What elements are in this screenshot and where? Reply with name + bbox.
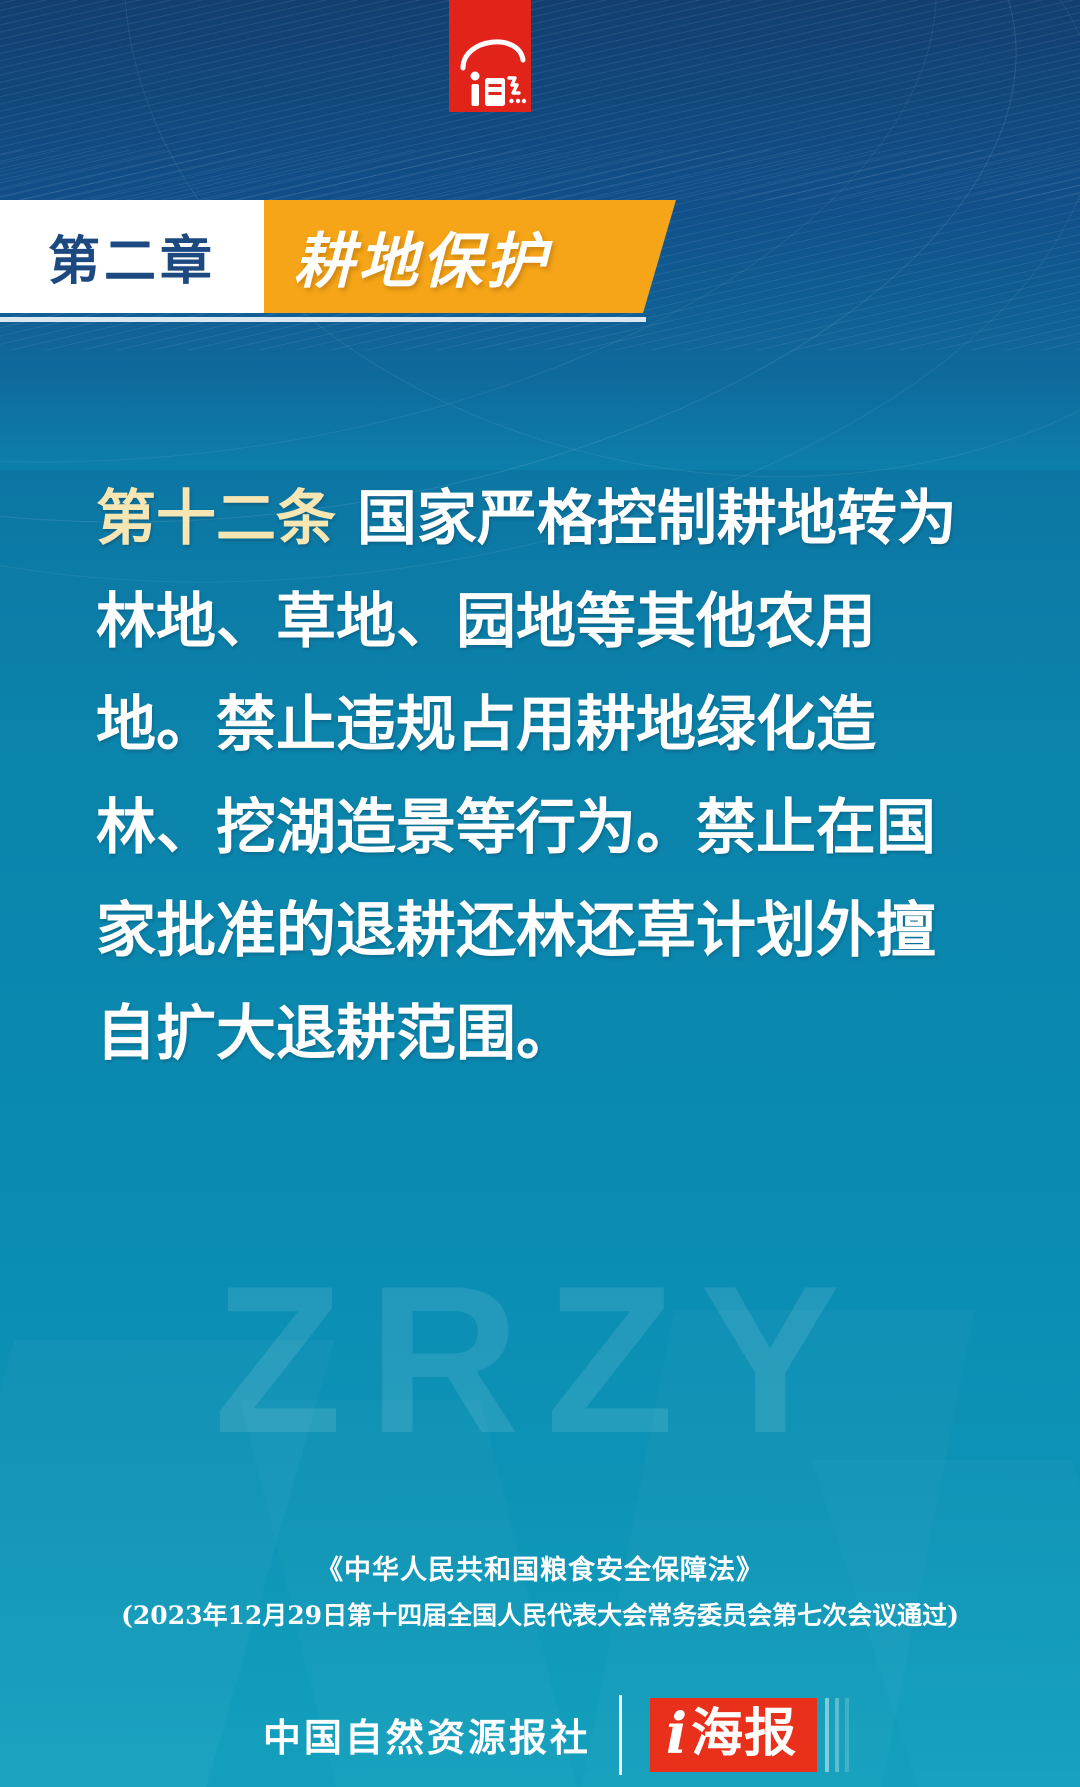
footer-divider (619, 1695, 622, 1775)
poster-canvas: ZRZY 第二章 耕地保护 第十二条 国家严格控制耕地转为林地、草地、园地等其他… (0, 0, 1080, 1787)
chapter-underline-rule (0, 317, 646, 322)
source-citation: 《中华人民共和国粮食安全保障法》 (2023年12月29日第十四届全国人民代表大… (0, 1548, 1080, 1632)
article-body: 第十二条 国家严格控制耕地转为林地、草地、园地等其他农用地。禁止违规占用耕地绿化… (96, 468, 984, 1086)
chapter-banner: 第二章 耕地保护 (0, 200, 676, 313)
article-lead-label: 第十二条 (96, 484, 336, 554)
chapter-title-block: 耕地保护 (264, 200, 676, 313)
haibao-stripe-2 (835, 1698, 839, 1772)
chapter-number: 第二章 (0, 200, 264, 313)
watermark-text: ZRZY (0, 1255, 1080, 1465)
i-haibao-logo: i 海报 (650, 1698, 817, 1772)
law-title: 《中华人民共和国粮食安全保障法》 (0, 1548, 1080, 1587)
haibao-i-letter: i (666, 1706, 687, 1762)
i-ziran-logo (449, 0, 531, 112)
haibao-label: 海报 (691, 1708, 797, 1760)
article-body-text: 国家严格控制耕地转为林地、草地、园地等其他农用地。禁止违规占用耕地绿化造林、挖湖… (96, 484, 957, 1069)
publisher-name: 中国自然资源报社 (263, 1707, 591, 1762)
haibao-stripe-3 (845, 1698, 849, 1772)
chapter-title: 耕地保护 (264, 200, 676, 313)
footer-bar: 中国自然资源报社 i 海报 (0, 1682, 1080, 1787)
haibao-stripe-1 (825, 1698, 829, 1772)
law-adoption-note: (2023年12月29日第十四届全国人民代表大会常务委员会第七次会议通过) (0, 1596, 1080, 1632)
